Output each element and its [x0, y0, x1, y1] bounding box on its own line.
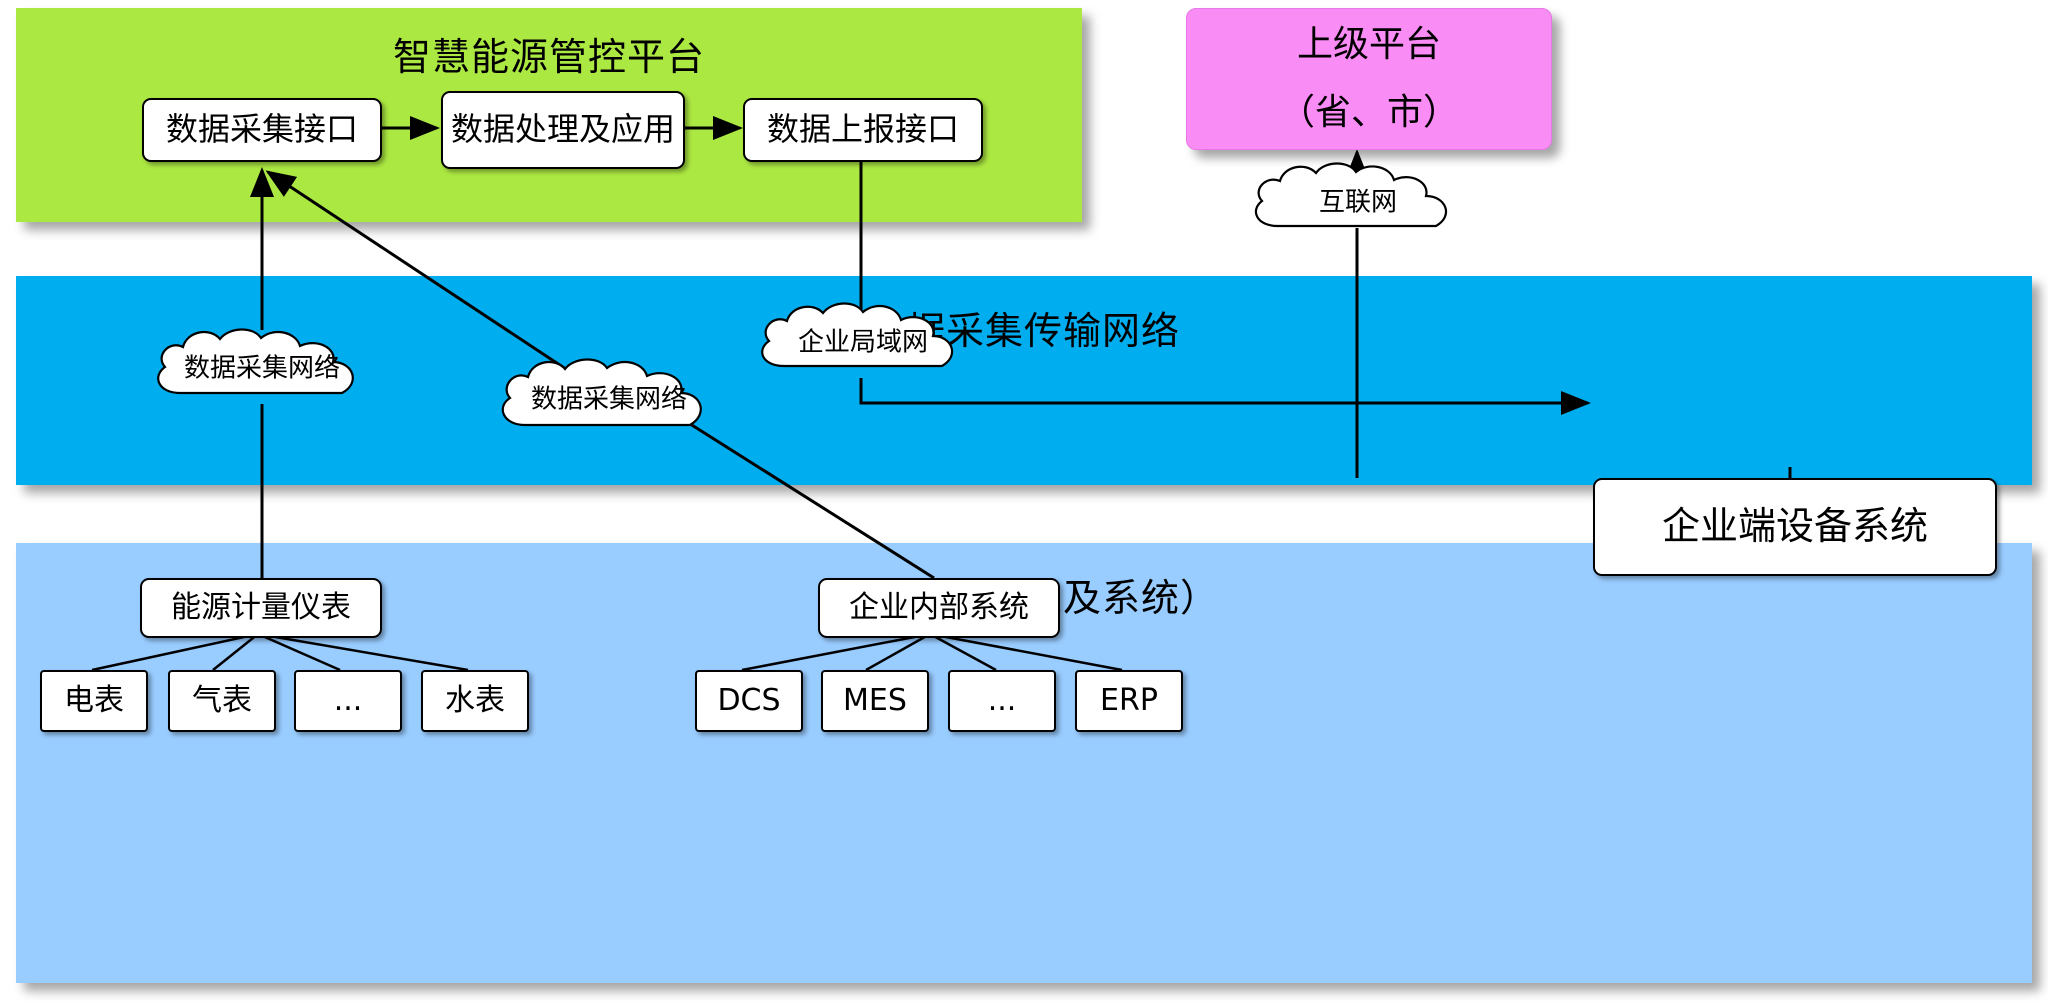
node-meter-ellipsis[interactable]: ... — [294, 670, 402, 732]
node-system-dcs[interactable]: DCS — [695, 670, 803, 732]
node-process-apply[interactable]: 数据处理及应用 — [441, 91, 685, 169]
node-meter-water[interactable]: 水表 — [421, 670, 529, 732]
node-meter-gas[interactable]: 气表 — [168, 670, 276, 732]
cloud-collect-network-left[interactable]: 数据采集网络 — [148, 325, 376, 407]
node-upper-platform[interactable]: 上级平台 （省、市） — [1186, 8, 1552, 150]
diagram-canvas: 智慧能源管控平台 数据采集传输网络 数据源（仪表及系统） — [0, 0, 2048, 1003]
collect-network-mid-cloud-icon — [492, 355, 726, 439]
enterprise-lan-cloud-icon — [752, 300, 974, 380]
node-system-erp[interactable]: ERP — [1075, 670, 1183, 732]
node-energy-meter-parent[interactable]: 能源计量仪表 — [140, 578, 382, 638]
cloud-internet[interactable]: 互联网 — [1244, 160, 1472, 240]
node-enterprise-device-system[interactable]: 企业端设备系统 — [1593, 478, 1997, 576]
upper-platform-title: 上级平台 — [1297, 11, 1441, 79]
node-meter-electric[interactable]: 电表 — [40, 670, 148, 732]
node-system-mes[interactable]: MES — [821, 670, 929, 732]
upper-platform-subtitle: （省、市） — [1279, 79, 1459, 147]
cloud-collect-network-mid[interactable]: 数据采集网络 — [492, 355, 726, 439]
node-report-interface[interactable]: 数据上报接口 — [743, 98, 983, 162]
node-internal-system-parent[interactable]: 企业内部系统 — [818, 578, 1060, 638]
internet-cloud-icon — [1244, 160, 1472, 240]
node-system-ellipsis[interactable]: ... — [948, 670, 1056, 732]
collect-network-left-cloud-icon — [148, 325, 376, 407]
cloud-enterprise-lan[interactable]: 企业局域网 — [752, 300, 974, 380]
node-collect-interface[interactable]: 数据采集接口 — [142, 98, 382, 162]
